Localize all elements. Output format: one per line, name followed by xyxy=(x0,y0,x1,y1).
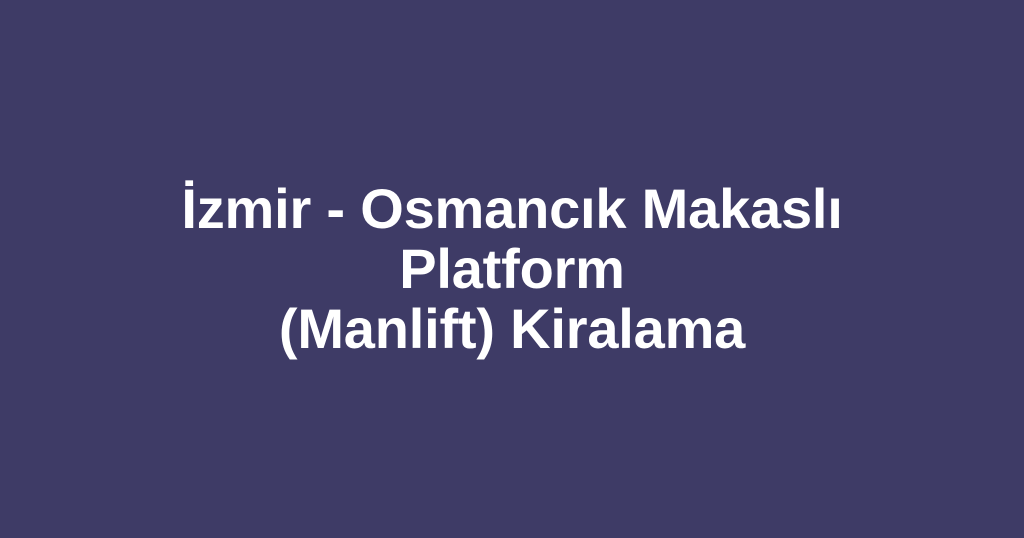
share-card-banner: İzmir - Osmancık Makaslı Platform (Manli… xyxy=(0,0,1024,538)
page-title-line-1: İzmir - Osmancık Makaslı Platform xyxy=(112,179,912,299)
page-title: İzmir - Osmancık Makaslı Platform (Manli… xyxy=(112,179,912,359)
page-title-line-2: (Manlift) Kiralama xyxy=(112,299,912,359)
